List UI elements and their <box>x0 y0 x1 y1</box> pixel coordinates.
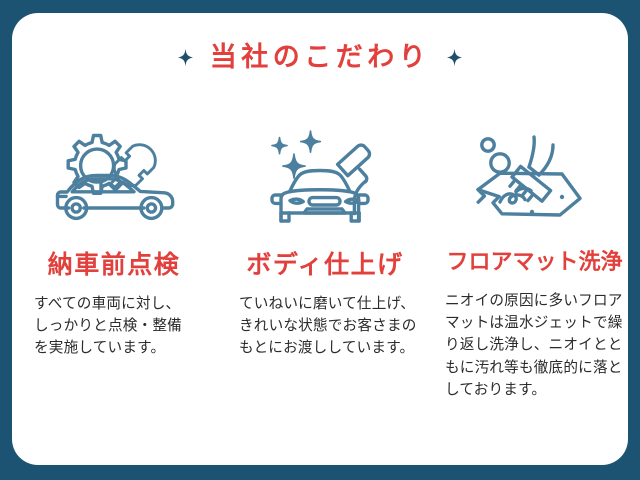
body-line: しっかりと点検・整備 <box>34 315 218 337</box>
body-line: きれいな状態でお客さまの <box>239 315 425 337</box>
feature-heading: ボディ仕上げ <box>231 252 425 277</box>
sparkle-icon <box>178 48 193 67</box>
body-line: ニオイの原因に多いフロア <box>445 290 628 312</box>
page-title: 当社のこだわり <box>210 44 431 71</box>
body-line: マットは温水ジェットで繰 <box>445 312 628 334</box>
car-gear-wrench-icon <box>47 129 179 233</box>
feature-column-body-finish: ボディ仕上げ ていねいに磨いて仕上げ、 きれいな状態でお客さまの もとにお渡しし… <box>218 125 425 360</box>
page-title-row: 当社のこだわり <box>12 44 628 71</box>
floor-mat-brush-icon <box>466 129 594 233</box>
body-line: もとにお渡ししています。 <box>239 337 425 359</box>
feature-column-floor-mat: フロアマット洗浄 ニオイの原因に多いフロア マットは温水ジェットで繰 り返し洗浄… <box>425 125 628 401</box>
content-card: 当社のこだわり <box>12 13 628 465</box>
feature-icon-wrap <box>231 125 425 233</box>
body-line: すべての車両に対し、 <box>34 293 218 315</box>
feature-heading: 納車前点検 <box>22 252 218 277</box>
feature-icon-wrap <box>445 125 628 233</box>
body-line: もに汚れ等も徹底的に落と <box>445 357 628 379</box>
body-line: ていねいに磨いて仕上げ、 <box>239 293 425 315</box>
feature-body: ていねいに磨いて仕上げ、 きれいな状態でお客さまの もとにお渡ししています。 <box>231 293 425 360</box>
body-line: を実施しています。 <box>34 337 218 359</box>
car-front-sparkle-spray-icon <box>259 129 389 233</box>
teal-frame: 当社のこだわり <box>0 0 640 480</box>
feature-columns: 納車前点検 すべての車両に対し、 しっかりと点検・整備 を実施しています。 <box>12 125 628 401</box>
sparkle-icon <box>447 48 462 67</box>
body-line: り返し洗浄し、ニオイとと <box>445 334 628 356</box>
feature-body: ニオイの原因に多いフロア マットは温水ジェットで繰 り返し洗浄し、ニオイとと も… <box>445 290 628 401</box>
body-line: しております。 <box>445 379 628 401</box>
feature-column-inspection: 納車前点検 すべての車両に対し、 しっかりと点検・整備 を実施しています。 <box>12 125 218 360</box>
feature-body: すべての車両に対し、 しっかりと点検・整備 を実施しています。 <box>22 293 218 360</box>
feature-icon-wrap <box>22 125 218 233</box>
feature-heading: フロアマット洗浄 <box>445 252 628 274</box>
